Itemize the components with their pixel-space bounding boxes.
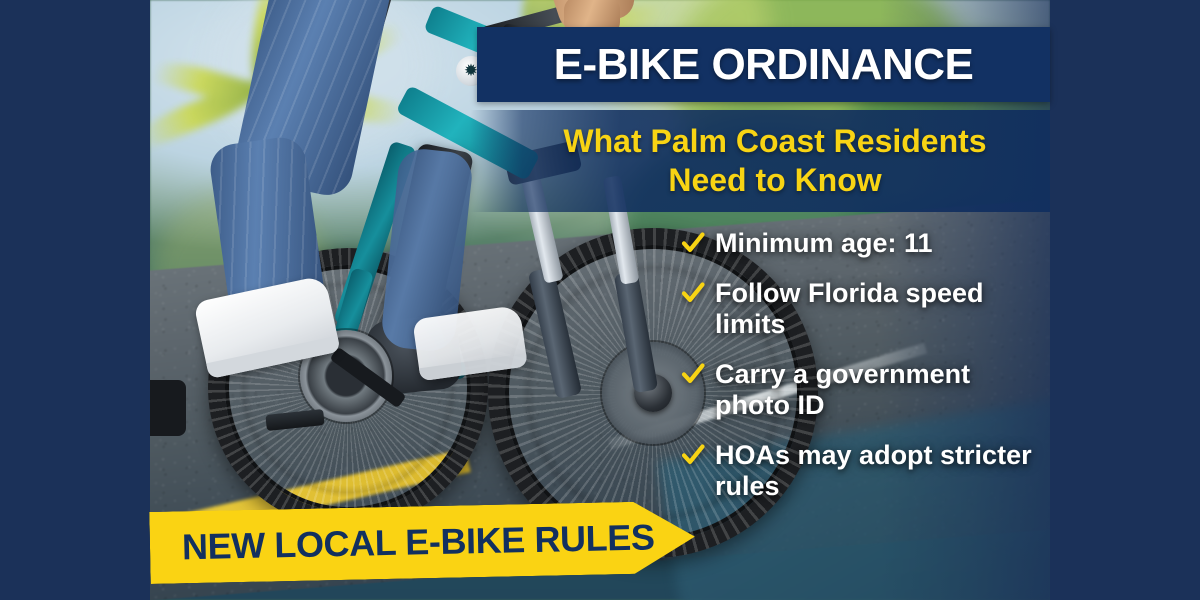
- banner-arrow-shape: NEW LOCAL E-BIKE RULES: [149, 500, 710, 584]
- check-icon: [681, 281, 705, 311]
- rear-derailleur: [150, 380, 186, 436]
- check-icon: [681, 362, 705, 392]
- left-navy-border: [0, 0, 150, 600]
- list-item-label: Follow Florida speed limits: [715, 278, 1041, 341]
- list-item-label: HOAs may adopt stricter rules: [715, 440, 1041, 503]
- list-item: Minimum age: 11: [681, 228, 1041, 260]
- check-icon: [681, 443, 705, 473]
- subtitle-line-2: Need to Know: [668, 161, 881, 200]
- page-title: E-BIKE ORDINANCE: [554, 40, 974, 90]
- key-points-list: Minimum age: 11 Follow Florida speed lim…: [681, 228, 1041, 521]
- list-item: HOAs may adopt stricter rules: [681, 440, 1041, 503]
- right-navy-border: [1050, 0, 1200, 600]
- title-band: E-BIKE ORDINANCE: [477, 27, 1050, 102]
- subtitle-line-1: What Palm Coast Residents: [563, 122, 986, 161]
- banner-label: NEW LOCAL E-BIKE RULES: [150, 516, 655, 569]
- list-item: Carry a government photo ID: [681, 359, 1041, 422]
- list-item-label: Minimum age: 11: [715, 228, 933, 260]
- bottom-banner: NEW LOCAL E-BIKE RULES: [149, 500, 710, 584]
- list-item-label: Carry a government photo ID: [715, 359, 1041, 422]
- list-item: Follow Florida speed limits: [681, 278, 1041, 341]
- check-icon: [681, 231, 705, 261]
- infographic-canvas: ✹ E-BIKE ORDINANCE What Palm C: [0, 0, 1200, 600]
- subtitle-band: What Palm Coast Residents Need to Know: [470, 110, 1050, 212]
